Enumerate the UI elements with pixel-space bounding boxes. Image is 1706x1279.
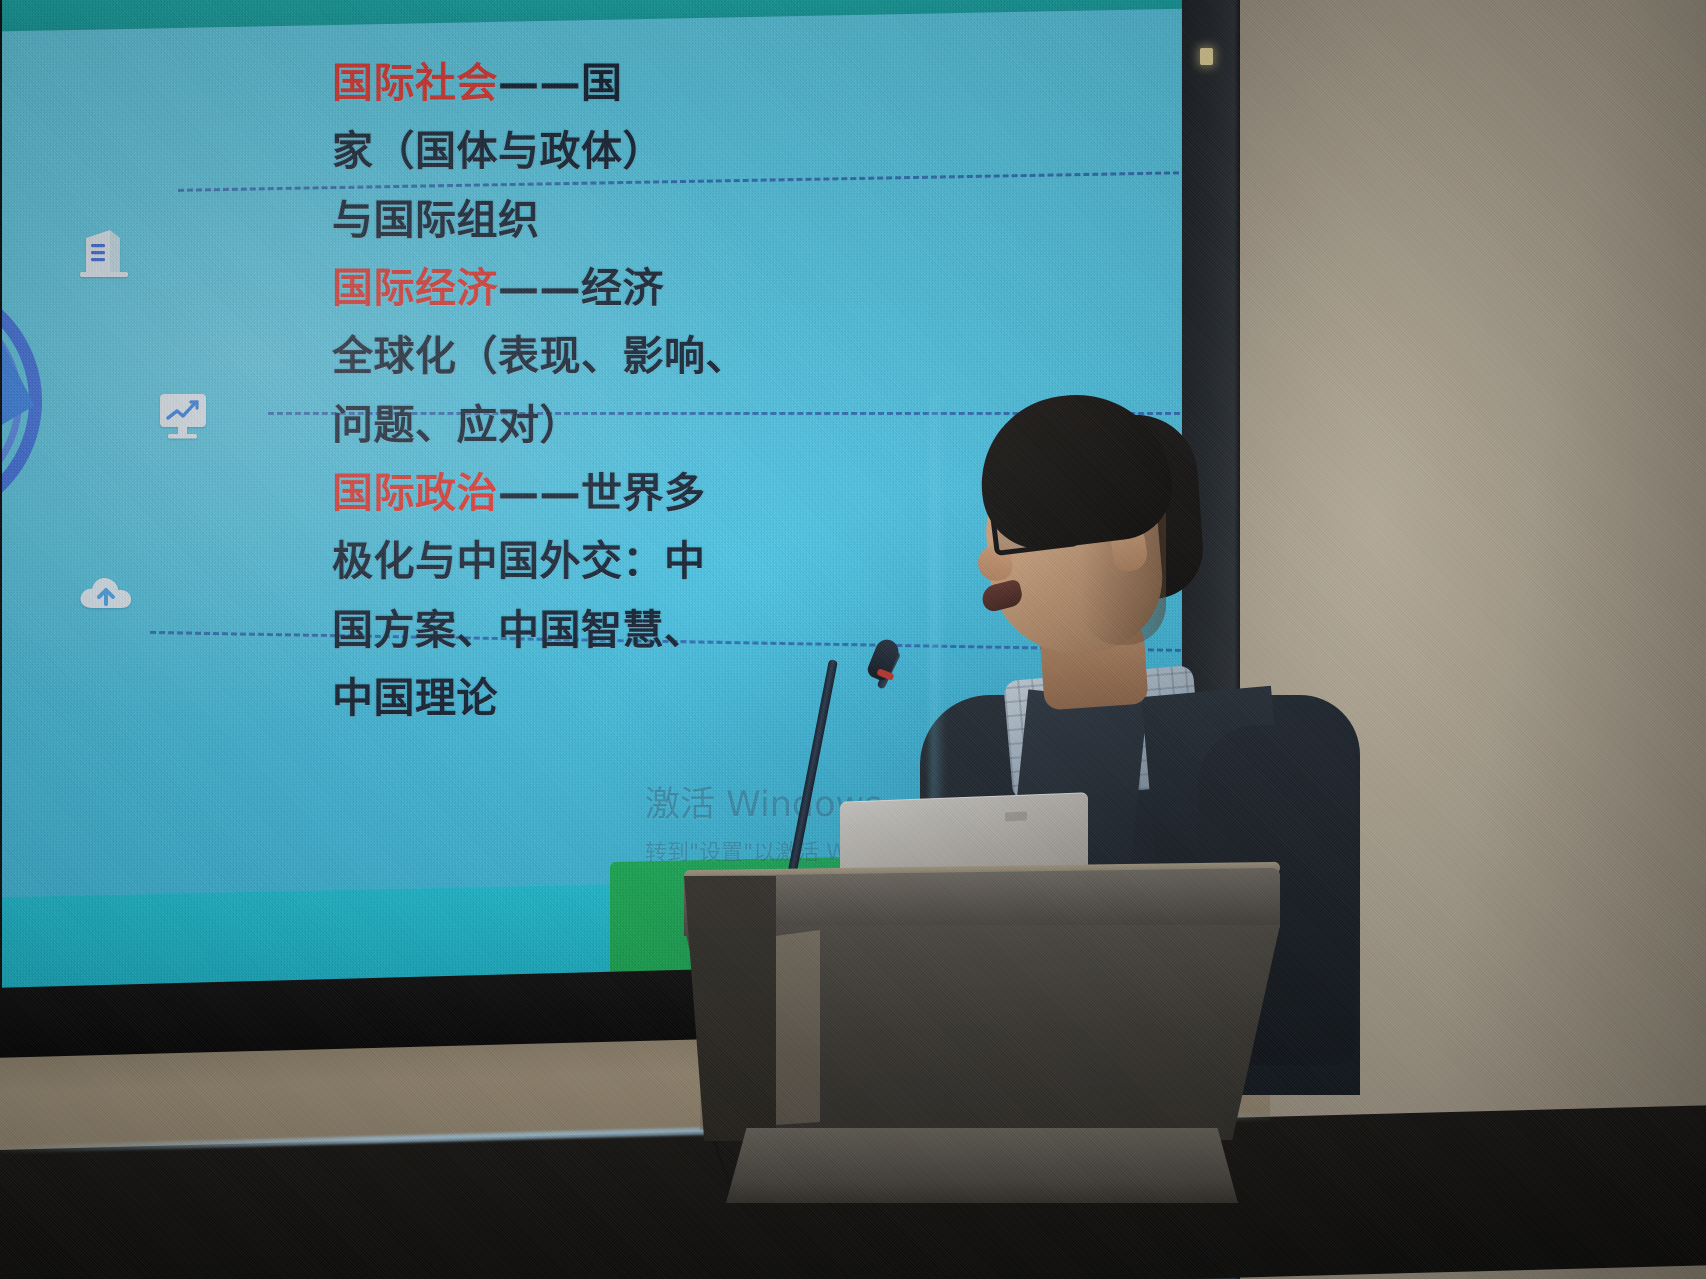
building-document-icon xyxy=(80,224,132,278)
slide-line-4: 国际经济——经济 xyxy=(332,257,752,319)
monitor-chart-icon xyxy=(158,392,212,440)
slide-dash-1: —— xyxy=(498,59,581,107)
slide-line-5: 全球化（表现、影响、 xyxy=(332,325,752,387)
slide-line-10: 中国理论 xyxy=(332,667,752,729)
screen-frame-left xyxy=(0,0,2,1050)
slide-line-1: 国际社会——国 xyxy=(332,52,752,114)
slide-line-3: 与国际组织 xyxy=(332,189,752,251)
slide-line-9: 国方案、中国智慧、 xyxy=(332,599,752,661)
slide-line-6: 问题、应对） xyxy=(332,394,752,456)
circular-segment-infographic xyxy=(0,120,310,680)
cloud-upload-icon xyxy=(78,572,134,614)
slide-heading-society: 国际社会 xyxy=(332,59,498,107)
slide-heading-economy: 国际经济 xyxy=(332,264,498,312)
slide-dash-3: —— xyxy=(498,469,581,517)
laptop-logo xyxy=(1005,812,1027,822)
slide-dash-2: —— xyxy=(498,264,581,312)
presentation-photo-scene: 国际社会——国 家（国体与政体） 与国际组织 国际经济——经济 全球化（表现、影… xyxy=(0,0,1706,1279)
slide-line-7: 国际政治——世界多 xyxy=(332,462,752,524)
slide-line-2: 家（国体与政体） xyxy=(332,120,752,182)
slide-heading-politics: 国际政治 xyxy=(332,469,498,517)
wall-light-icon xyxy=(1200,48,1213,65)
slide-top-band xyxy=(0,0,1182,32)
podium-base xyxy=(726,1128,1238,1203)
slide-line-8: 极化与中国外交：中 xyxy=(332,530,752,592)
slide-text-content: 国际社会——国 家（国体与政体） 与国际组织 国际经济——经济 全球化（表现、影… xyxy=(332,52,752,735)
speaker-hair xyxy=(972,384,1179,556)
